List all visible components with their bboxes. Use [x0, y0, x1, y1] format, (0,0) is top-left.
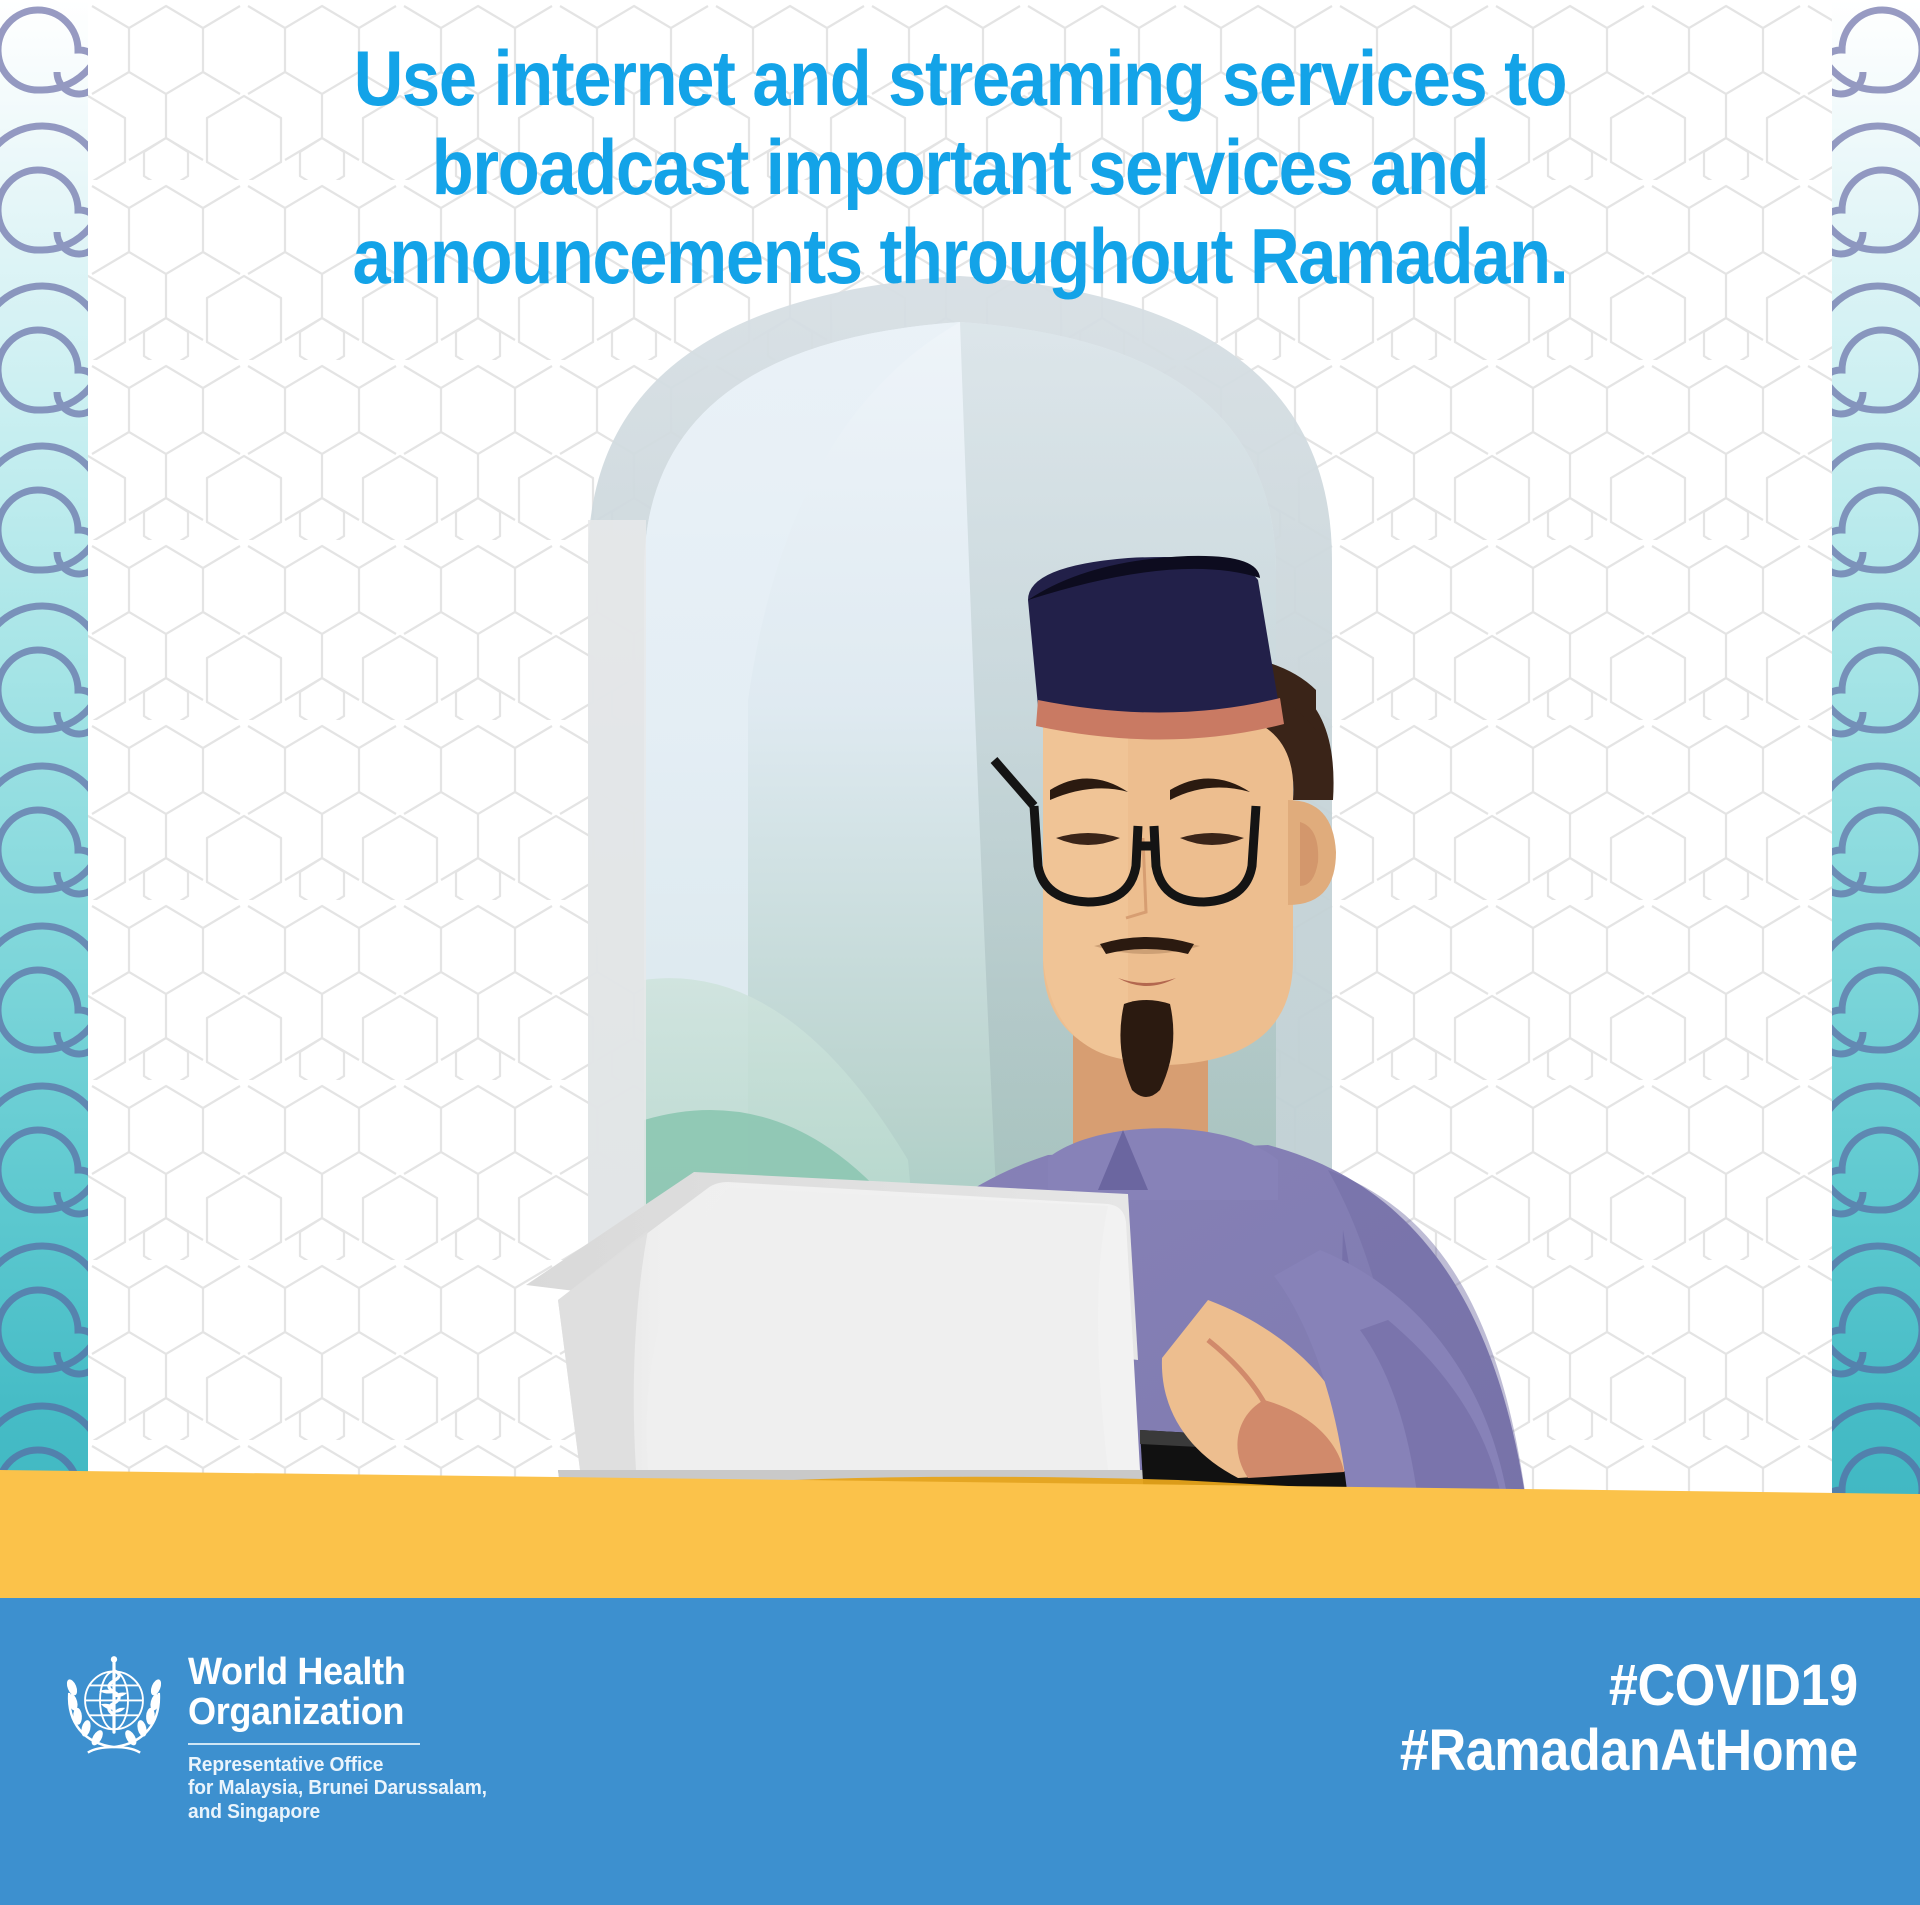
- who-organization-name: World Health Organization: [188, 1652, 484, 1733]
- who-logo-text: World Health Organization Representative…: [188, 1646, 499, 1824]
- spiral-ornament-border-right: [1832, 0, 1920, 1598]
- yellow-table: [0, 1438, 1920, 1598]
- poster-canvas: Use internet and streaming services to b…: [0, 0, 1920, 1905]
- who-logo: World Health Organization Representative…: [58, 1646, 499, 1824]
- hashtag-ramadanathome: #RamadanAtHome: [1400, 1719, 1858, 1784]
- hashtag-covid19: #COVID19: [1400, 1654, 1858, 1719]
- spiral-ornament-border-left: [0, 0, 88, 1598]
- who-emblem: [58, 1650, 170, 1762]
- hashtag-group: #COVID19 #RamadanAtHome: [1400, 1654, 1858, 1784]
- who-office-name: Representative Office for Malaysia, Brun…: [188, 1754, 487, 1825]
- page-title: Use internet and streaming services to b…: [247, 34, 1673, 301]
- who-divider: [188, 1743, 420, 1745]
- footer-bar: World Health Organization Representative…: [0, 1598, 1920, 1905]
